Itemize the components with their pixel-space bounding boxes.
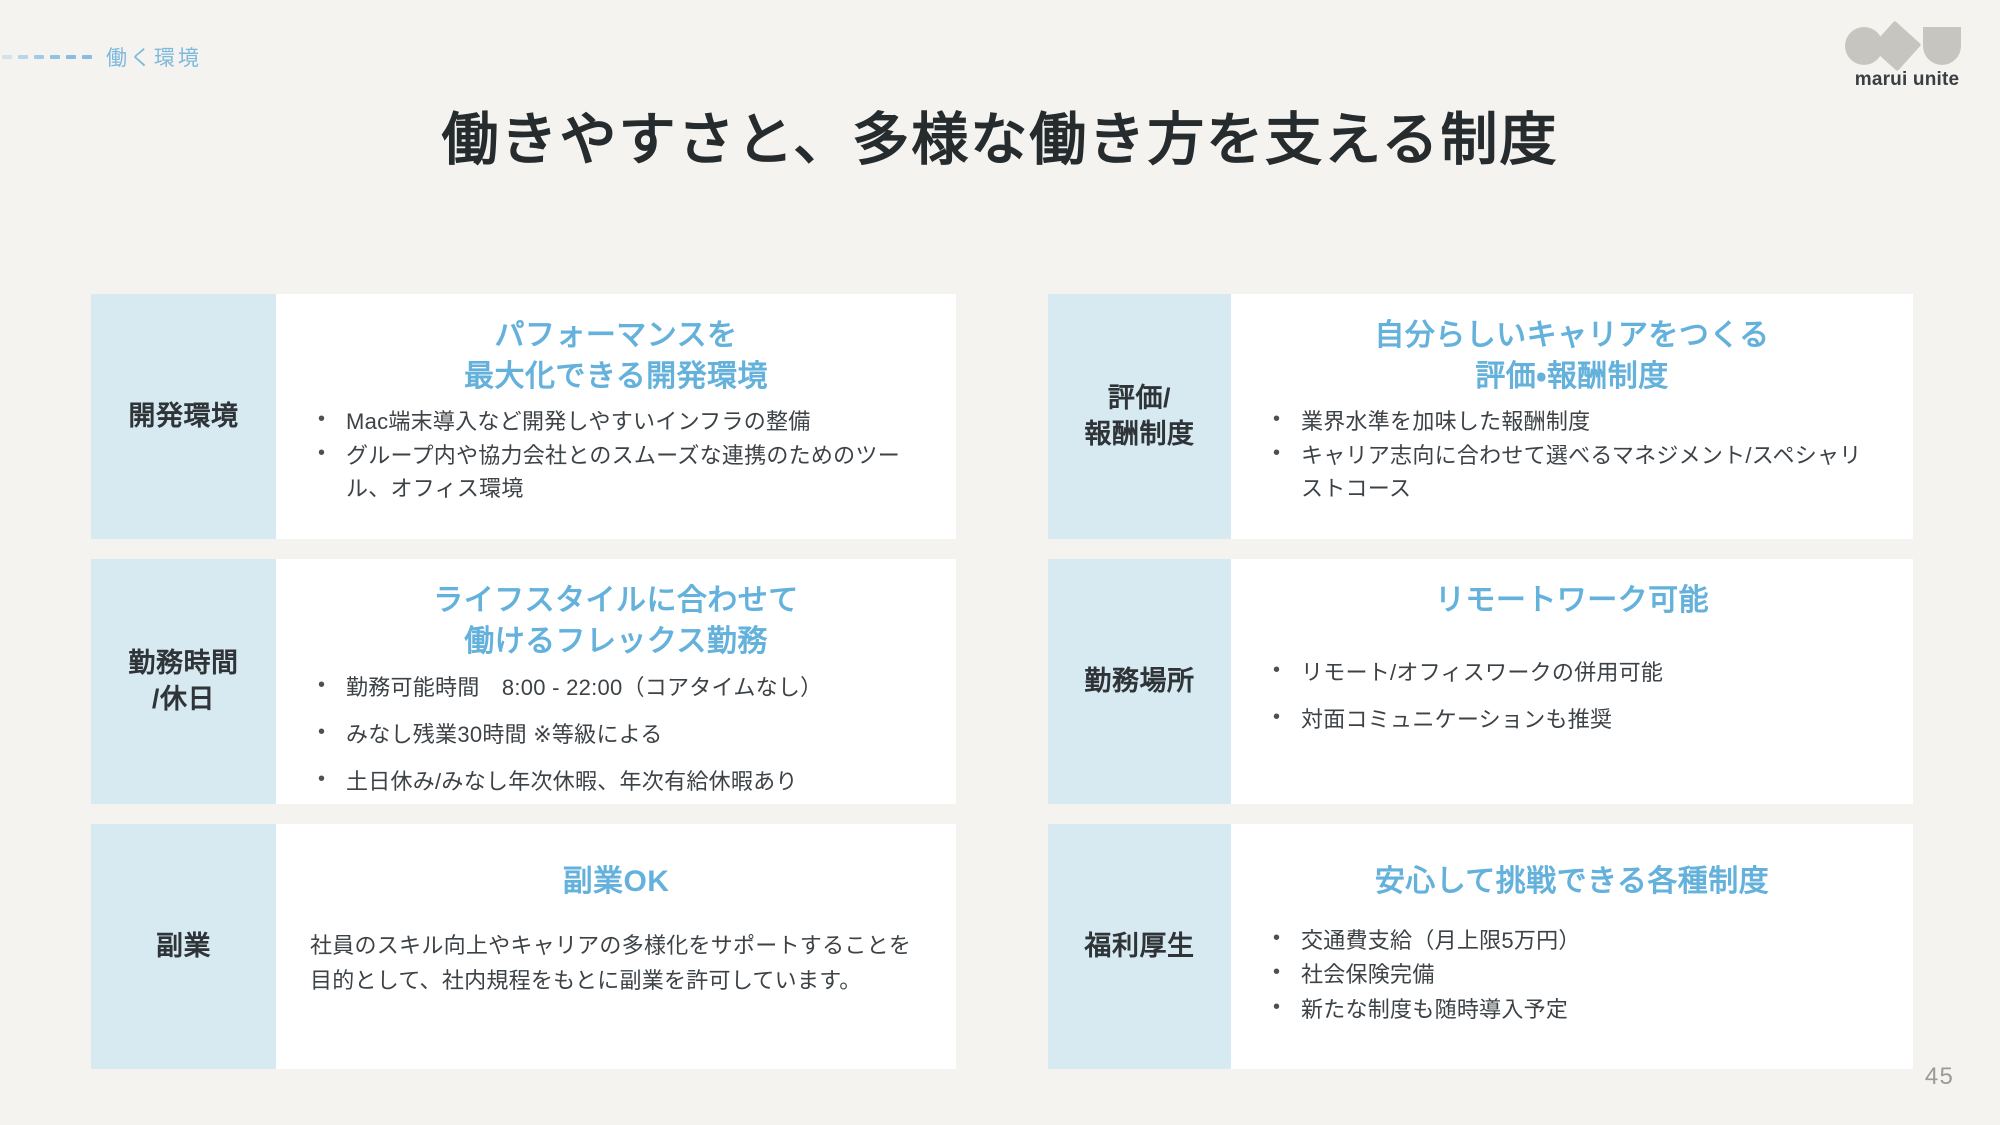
card-heading-line-1: 副業OK — [310, 862, 922, 903]
logo-diamond-icon — [1871, 21, 1922, 72]
card-body-development-environment: パフォーマンスを 最大化できる開発環境 Mac端末導入など開発しやすいインフラの… — [276, 294, 956, 539]
card-body-evaluation-compensation: 自分らしいキャリアをつくる 評価・報酬制度 業界水準を加味した報酬制度 キャリア… — [1231, 294, 1913, 539]
company-logo: marui unite — [1842, 22, 1972, 91]
card-working-hours-holidays: 勤務時間 /休日 ライフスタイルに合わせて 働けるフレックス勤務 勤務可能時間 … — [91, 559, 956, 804]
card-heading: 自分らしいキャリアをつくる 評価・報酬制度 — [1265, 316, 1879, 398]
card-label-evaluation-compensation: 評価/ 報酬制度 — [1048, 294, 1231, 539]
list-item: グループ内や協力会社とのスムーズな連携のためのツール、オフィス環境 — [310, 440, 922, 505]
card-heading: 安心して挑戦できる各種制度 — [1265, 862, 1879, 903]
list-item: 対面コミュニケーションも推奨 — [1265, 703, 1879, 736]
card-heading: 副業OK — [310, 862, 922, 903]
list-item: 交通費支給（月上限5万円） — [1265, 925, 1879, 958]
page-header: 働く環境 marui unite — [0, 0, 2000, 112]
card-label-side-job: 副業 — [91, 824, 276, 1069]
card-heading-line-2: 最大化できる開発環境 — [310, 357, 922, 398]
card-employee-benefits: 福利厚生 安心して挑戦できる各種制度 交通費支給（月上限5万円） 社会保険完備 … — [1048, 824, 1913, 1069]
list-item: リモート/オフィスワークの併用可能 — [1265, 656, 1879, 689]
card-label-line-2: 報酬制度 — [1084, 419, 1194, 449]
card-label-text: 福利厚生 — [1084, 929, 1194, 965]
card-heading-line-1: リモートワーク可能 — [1265, 581, 1879, 622]
benefits-card-grid: 開発環境 パフォーマンスを 最大化できる開発環境 Mac端末導入など開発しやすい… — [91, 294, 1913, 1069]
card-development-environment: 開発環境 パフォーマンスを 最大化できる開発環境 Mac端末導入など開発しやすい… — [91, 294, 956, 539]
breadcrumb-label: 働く環境 — [106, 42, 202, 72]
card-heading: ライフスタイルに合わせて 働けるフレックス勤務 — [310, 581, 922, 663]
card-label-text: 勤務場所 — [1084, 664, 1194, 700]
card-bullet-list: リモート/オフィスワークの併用可能 対面コミュニケーションも推奨 — [1265, 656, 1879, 736]
card-heading: リモートワーク可能 — [1265, 581, 1879, 622]
logo-marks — [1845, 22, 1969, 68]
card-bullet-list: 業界水準を加味した報酬制度 キャリア志向に合わせて選べるマネジメント/スペシャリ… — [1265, 406, 1879, 508]
logo-u-shape-icon — [1923, 27, 1961, 65]
card-evaluation-compensation: 評価/ 報酬制度 自分らしいキャリアをつくる 評価・報酬制度 業界水準を加味した… — [1048, 294, 1913, 539]
card-bullet-list: 交通費支給（月上限5万円） 社会保険完備 新たな制度も随時導入予定 — [1265, 925, 1879, 1029]
breadcrumb: 働く環境 — [0, 42, 202, 72]
card-body-employee-benefits: 安心して挑戦できる各種制度 交通費支給（月上限5万円） 社会保険完備 新たな制度… — [1231, 824, 1913, 1069]
card-heading-line-2: 評価・報酬制度 — [1265, 357, 1879, 398]
list-item: 勤務可能時間 8:00 - 22:00（コアタイムなし） — [310, 671, 922, 704]
card-heading-line-1: 安心して挑戦できる各種制度 — [1265, 862, 1879, 903]
card-label-line-2: /休日 — [152, 684, 215, 714]
card-label-line-1: 勤務時間 — [128, 648, 238, 678]
list-item: 社会保険完備 — [1265, 959, 1879, 992]
card-label-employee-benefits: 福利厚生 — [1048, 824, 1231, 1069]
card-body-side-job: 副業OK 社員のスキル向上やキャリアの多様化をサポートすることを目的として、社内… — [276, 824, 956, 1069]
page-title: 働きやすさと、多様な働き方を支える制度 — [0, 105, 2000, 176]
list-item: Mac端末導入など開発しやすいインフラの整備 — [310, 406, 922, 439]
card-heading-line-1: パフォーマンスを — [310, 316, 922, 357]
card-heading-line-2: 働けるフレックス勤務 — [310, 622, 922, 663]
page-number: 45 — [1925, 1063, 1954, 1091]
card-bullet-list: 勤務可能時間 8:00 - 22:00（コアタイムなし） みなし残業30時間 ※… — [310, 671, 922, 798]
card-heading-line-1: 自分らしいキャリアをつくる — [1265, 316, 1879, 357]
card-bullet-list: Mac端末導入など開発しやすいインフラの整備 グループ内や協力会社とのスムーズな… — [310, 406, 922, 508]
card-label-text: 開発環境 — [128, 399, 238, 435]
list-item: みなし残業30時間 ※等級による — [310, 718, 922, 751]
card-label-work-location: 勤務場所 — [1048, 559, 1231, 804]
list-item: 土日休み/みなし年次休暇、年次有給休暇あり — [310, 765, 922, 798]
card-label-development-environment: 開発環境 — [91, 294, 276, 539]
card-body-working-hours-holidays: ライフスタイルに合わせて 働けるフレックス勤務 勤務可能時間 8:00 - 22… — [276, 559, 956, 804]
logo-wordmark: marui unite — [1842, 69, 1972, 91]
card-work-location: 勤務場所 リモートワーク可能 リモート/オフィスワークの併用可能 対面コミュニケ… — [1048, 559, 1913, 804]
card-heading-line-1: ライフスタイルに合わせて — [310, 581, 922, 622]
list-item: 新たな制度も随時導入予定 — [1265, 994, 1879, 1027]
card-label-text: 評価/ 報酬制度 — [1084, 381, 1194, 452]
list-item: 業界水準を加味した報酬制度 — [1265, 406, 1879, 439]
card-heading: パフォーマンスを 最大化できる開発環境 — [310, 316, 922, 398]
card-side-job: 副業 副業OK 社員のスキル向上やキャリアの多様化をサポートすることを目的として… — [91, 824, 956, 1069]
card-label-text: 勤務時間 /休日 — [128, 646, 238, 717]
card-paragraph: 社員のスキル向上やキャリアの多様化をサポートすることを目的として、社内規程をもと… — [310, 929, 922, 999]
card-body-work-location: リモートワーク可能 リモート/オフィスワークの併用可能 対面コミュニケーションも… — [1231, 559, 1913, 804]
list-item: キャリア志向に合わせて選べるマネジメント/スペシャリストコース — [1265, 440, 1879, 505]
card-label-working-hours-holidays: 勤務時間 /休日 — [91, 559, 276, 804]
card-label-text: 副業 — [156, 929, 211, 965]
card-label-line-1: 評価/ — [1108, 383, 1171, 413]
dashed-line-icon — [2, 55, 92, 59]
